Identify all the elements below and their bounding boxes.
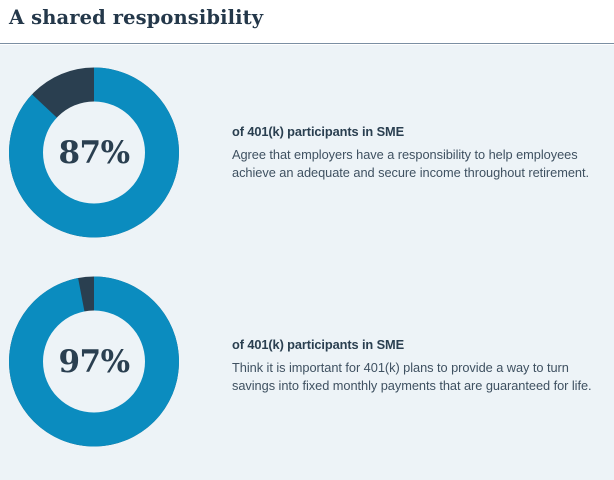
stat-body: Agree that employers have a responsibili… xyxy=(232,146,600,181)
stat-text-block: of 401(k) participants in SME Think it i… xyxy=(232,337,600,394)
donut-chart-97: 97% xyxy=(9,276,179,447)
infographic-root: A shared responsibility 87% of 401(k) pa… xyxy=(0,0,614,480)
stat-body: Think it is important for 401(k) plans t… xyxy=(232,359,600,394)
stat-heading: of 401(k) participants in SME xyxy=(232,124,600,139)
donut-center-value: 87% xyxy=(9,67,179,238)
page-title: A shared responsibility xyxy=(9,6,263,29)
stat-row: 87% of 401(k) participants in SME Agree … xyxy=(0,67,614,260)
stat-text-block: of 401(k) participants in SME Agree that… xyxy=(232,124,600,181)
donut-chart-87: 87% xyxy=(9,67,179,238)
stat-heading: of 401(k) participants in SME xyxy=(232,337,600,352)
header-bar: A shared responsibility xyxy=(0,0,614,44)
content-panel: 87% of 401(k) participants in SME Agree … xyxy=(0,45,614,480)
stat-row: 97% of 401(k) participants in SME Think … xyxy=(0,276,614,469)
donut-center-value: 97% xyxy=(9,276,179,447)
